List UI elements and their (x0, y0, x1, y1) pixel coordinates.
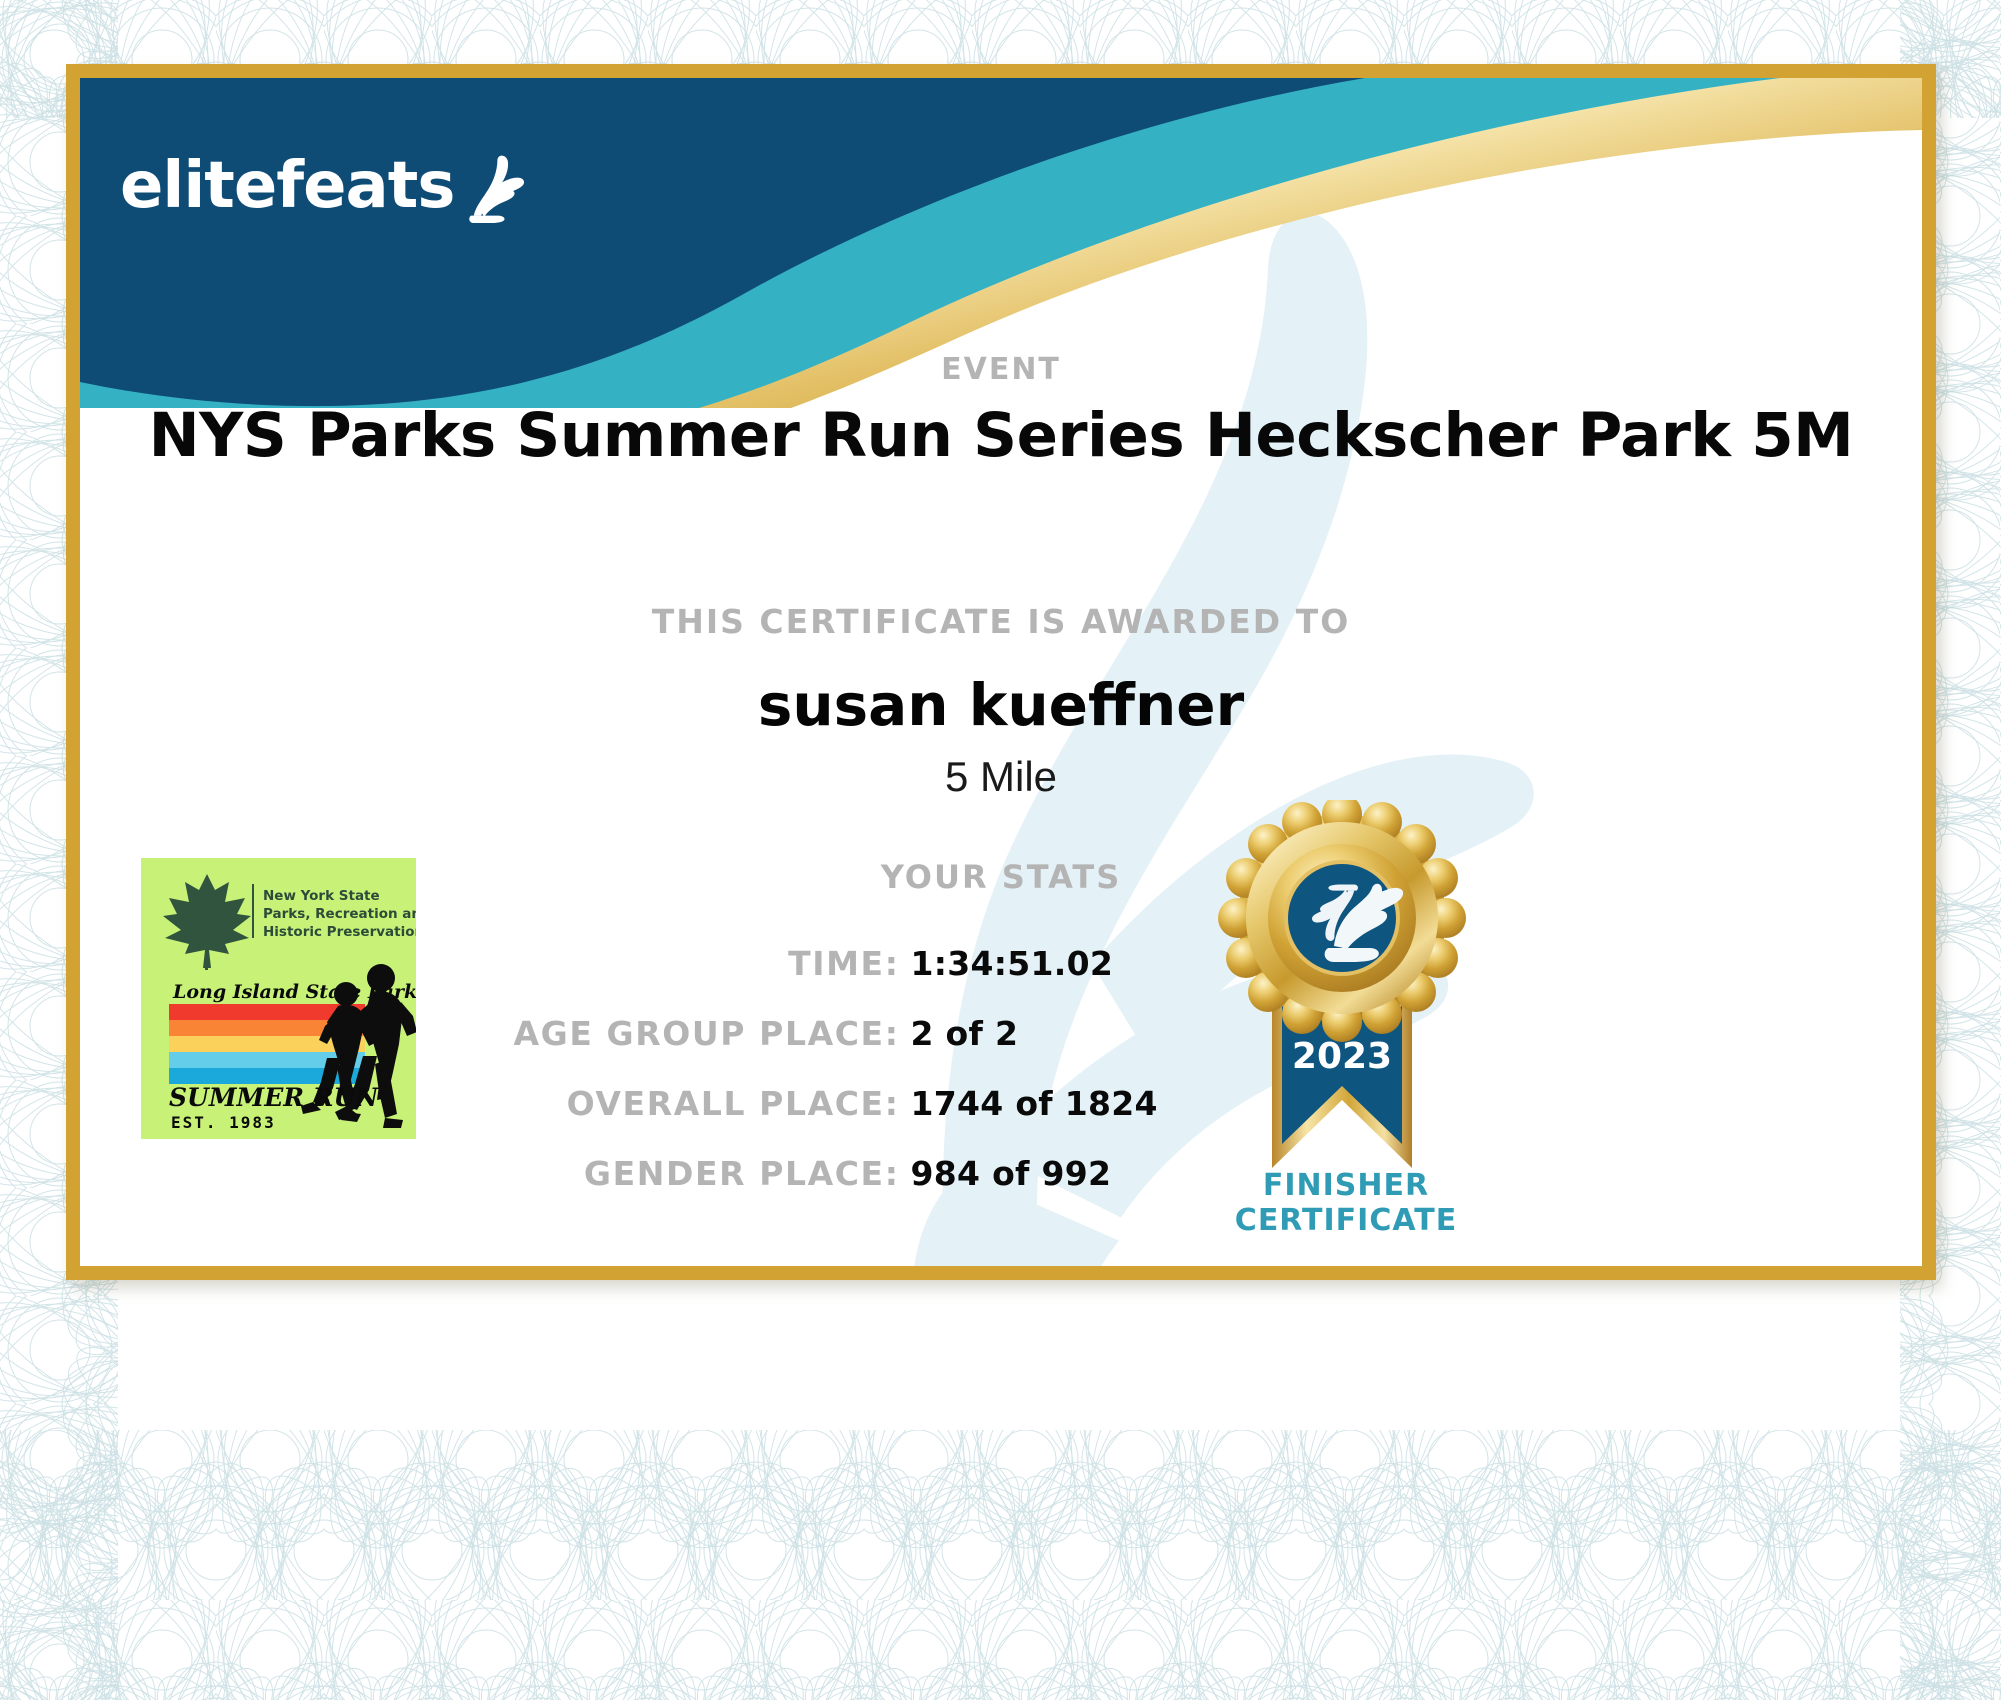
stat-key: AGE GROUP PLACE: (470, 1014, 900, 1053)
event-title: NYS Parks Summer Run Series Heckscher Pa… (80, 400, 1922, 471)
badge-caption-line-2: CERTIFICATE (1166, 1203, 1526, 1238)
brand-wordmark: elitefeats (120, 154, 454, 218)
event-label: EVENT (80, 352, 1922, 387)
agency-line-3: Historic Preservation (263, 924, 416, 940)
race-distance: 5 Mile (80, 753, 1922, 801)
certificate-frame: elitefeats EVENT NYS Parks Summer Run Se… (66, 64, 1936, 1280)
stat-row: GENDER PLACE: 984 of 992 (80, 1154, 1922, 1193)
established-year: EST. 1983 (171, 1113, 276, 1132)
stat-key: OVERALL PLACE: (470, 1084, 900, 1123)
badge-caption-line-1: FINISHER (1166, 1168, 1526, 1203)
winged-foot-icon (456, 152, 530, 226)
elitefeats-logo: elitefeats (120, 146, 530, 226)
award-medal-icon (1218, 800, 1466, 1042)
recipient-name: susan kueffner (80, 671, 1922, 739)
badge-year: 2023 (1292, 1036, 1392, 1077)
badge-caption: FINISHER CERTIFICATE (1166, 1168, 1526, 1239)
stat-key: GENDER PLACE: (470, 1154, 900, 1193)
agency-line-2: Parks, Recreation and (263, 906, 416, 922)
stat-key: TIME: (470, 944, 900, 983)
series-name: SUMMER RUN (169, 1083, 379, 1112)
awarded-to-label: THIS CERTIFICATE IS AWARDED TO (80, 602, 1922, 641)
agency-line-1: New York State (263, 888, 380, 904)
finisher-medal-badge: 2023 (1210, 800, 1475, 1200)
summer-run-event-logo: New York State Parks, Recreation and His… (141, 858, 416, 1139)
